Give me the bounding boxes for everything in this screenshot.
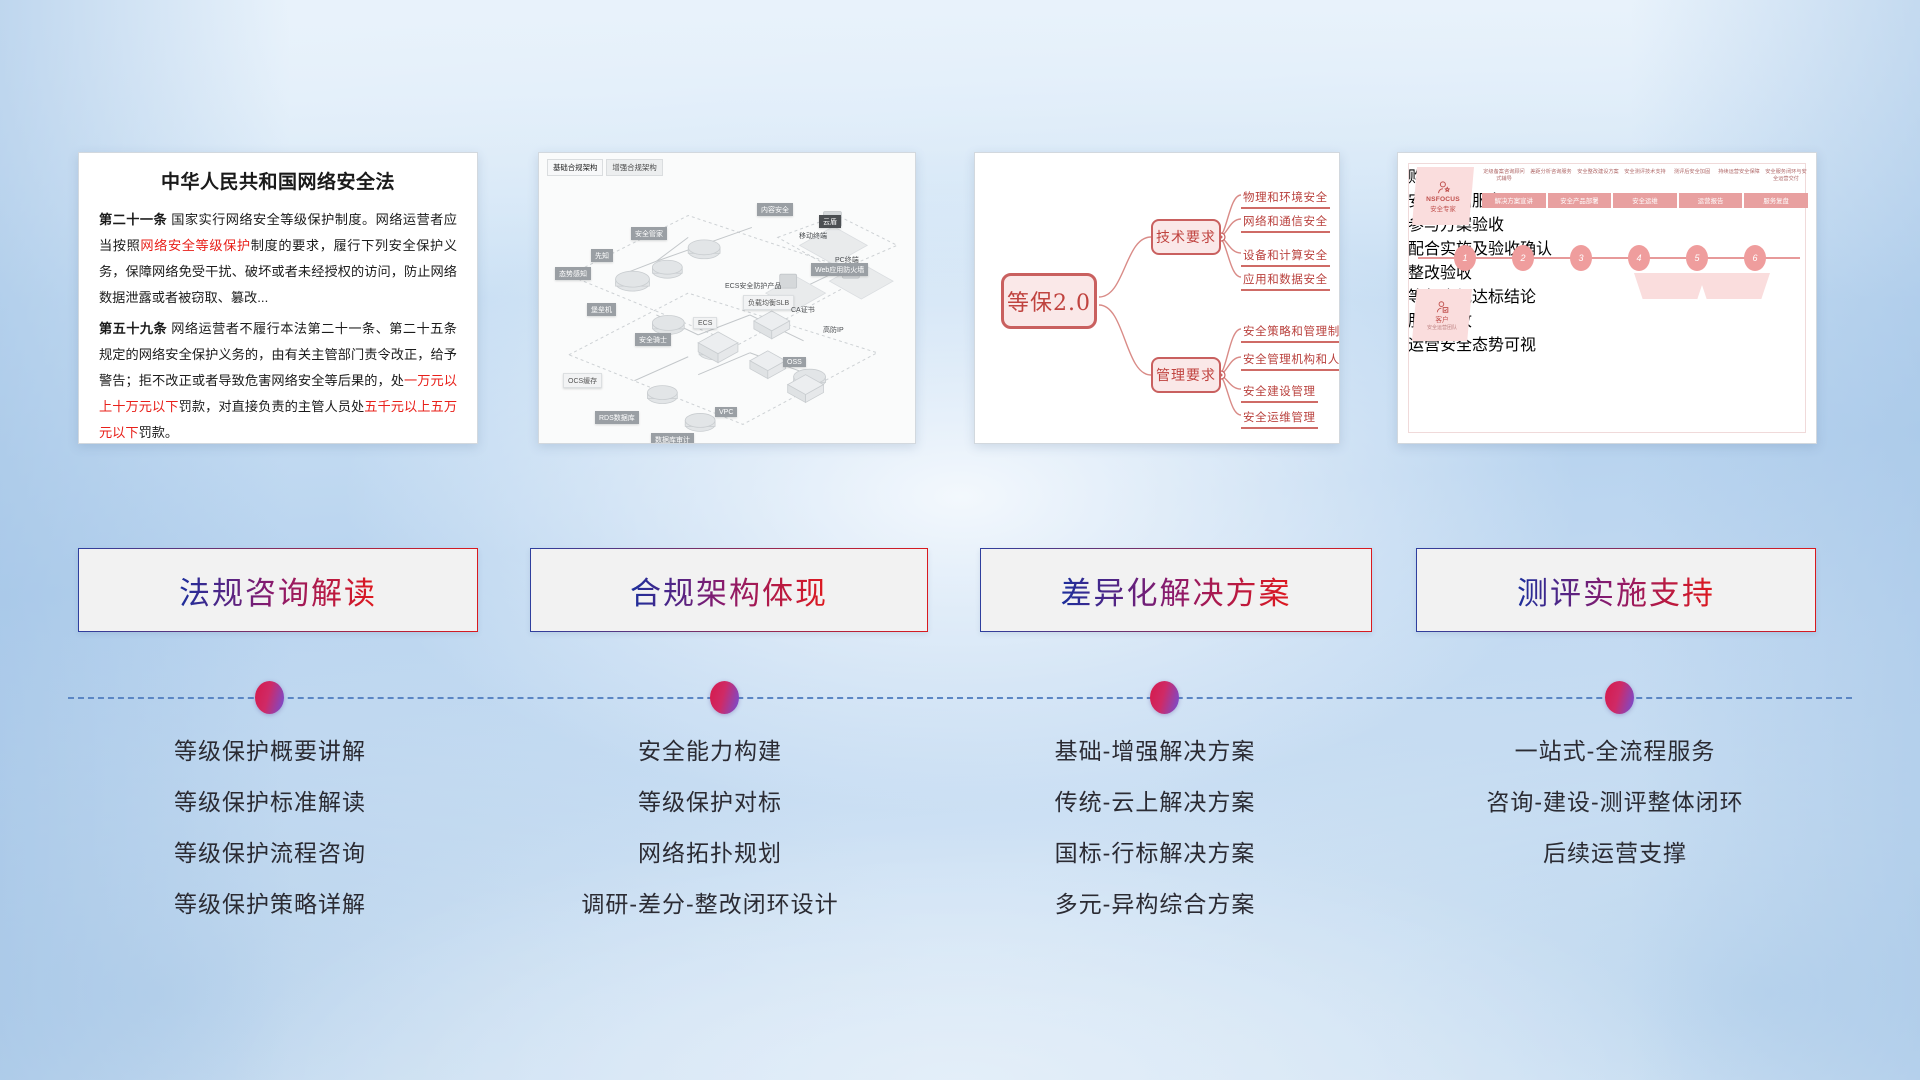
- arch-node-label: 内容安全: [757, 203, 793, 216]
- bullet-item: 等级保护概要讲解: [40, 740, 500, 763]
- nsfocus-top-headers: 定级备案咨询顾问式辅导差距分析咨询服务安全整改建设方案安全测评技术支持测评后安全…: [1482, 169, 1808, 182]
- nsfocus-step-number[interactable]: 1: [1454, 245, 1476, 271]
- bullet-item: 安全能力构建: [480, 740, 940, 763]
- nsfocus-step-chip[interactable]: 服务复盘: [1744, 193, 1808, 208]
- nsfocus-step-number[interactable]: 5: [1686, 245, 1708, 271]
- nsfocus-expert-badge: NSFOCUS 安全专家: [1412, 167, 1474, 225]
- mindmap-leaf[interactable]: 安全策略和管理制度: [1241, 323, 1340, 343]
- bullet-item: 等级保护策略详解: [40, 893, 500, 916]
- bullet-item: 后续运营支撑: [1380, 842, 1850, 865]
- arch-tab-enhanced[interactable]: 增强合规架构: [606, 159, 662, 176]
- bullet-item: 咨询-建设-测评整体闭环: [1380, 791, 1850, 814]
- law-article-21: 第二十一条 国家实行网络安全等级保护制度。网络运营者应当按照网络安全等级保护制度…: [99, 207, 457, 312]
- nsfocus-customer-badge: 客户 安全运营团队: [1412, 289, 1472, 341]
- mindmap-leaf[interactable]: 安全运维管理: [1241, 409, 1318, 429]
- nsfocus-top-header: 差距分析咨询服务: [1529, 169, 1573, 182]
- section-title-box-3[interactable]: 差异化解决方案: [980, 548, 1372, 632]
- bullet-item: 等级保护流程咨询: [40, 842, 500, 865]
- arch-node-label: 数据库审计: [651, 433, 694, 444]
- law-body-text: 罚款，对直接负责的主管人员处: [179, 399, 365, 414]
- customer-sub: 安全运营团队: [1427, 324, 1457, 331]
- arch-node-label: 堡垒机: [587, 303, 616, 316]
- nsfocus-step-number[interactable]: 2: [1512, 245, 1534, 271]
- card-compliance-architecture[interactable]: 基础合规架构 增强合规架构: [538, 152, 916, 444]
- section-title-2: 合规架构体现: [630, 568, 828, 613]
- section-title-box-2[interactable]: 合规架构体现: [530, 548, 928, 632]
- mindmap-leaf[interactable]: 物理和环境安全: [1241, 189, 1330, 209]
- nsfocus-step-number[interactable]: 3: [1570, 245, 1592, 271]
- mindmap-leaf[interactable]: 网络和通信安全: [1241, 213, 1330, 233]
- bullet-item: 调研-差分-整改闭环设计: [480, 893, 940, 916]
- nsfocus-top-header: 测评后安全加固: [1670, 169, 1714, 182]
- arch-node-label: ECS安全防护产品: [721, 279, 785, 292]
- bullet-column-1: 等级保护概要讲解等级保护标准解读等级保护流程咨询等级保护策略详解: [40, 740, 500, 944]
- person-check-icon: [1435, 300, 1449, 314]
- law-highlight-text: 网络安全等级保护: [140, 238, 250, 253]
- bullet-item: 基础-增强解决方案: [925, 740, 1385, 763]
- mindmap-branch-management[interactable]: 管理要求: [1151, 357, 1221, 393]
- nsfocus-top-header: 定级备案咨询顾问式辅导: [1482, 169, 1526, 182]
- bullet-item: 一站式-全流程服务: [1380, 740, 1850, 763]
- arch-tab-basic[interactable]: 基础合规架构: [547, 159, 603, 176]
- section-title-4: 测评实施支持: [1517, 568, 1715, 613]
- mindmap-leaf[interactable]: 应用和数据安全: [1241, 271, 1330, 291]
- timeline-dot-2[interactable]: [710, 681, 739, 714]
- mindmap-leaf[interactable]: 安全管理机构和人员: [1241, 351, 1340, 371]
- law-article-number: 第五十九条: [99, 321, 167, 336]
- arch-node-label: 云盾: [819, 215, 841, 228]
- bullet-column-2: 安全能力构建等级保护对标网络拓扑规划调研-差分-整改闭环设计: [480, 740, 940, 944]
- nsfocus-step-chip[interactable]: 安全产品部署: [1548, 193, 1612, 208]
- section-title-box-1[interactable]: 法规咨询解读: [78, 548, 478, 632]
- nsfocus-top-header: 安全测评技术支持: [1623, 169, 1667, 182]
- law-title: 中华人民共和国网络安全法: [99, 167, 457, 194]
- nsfocus-top-header: 安全服务闭环与安全运营交付: [1764, 169, 1808, 182]
- arch-node-label: 高防IP: [819, 323, 848, 336]
- nsfocus-top-header: 安全整改建设方案: [1576, 169, 1620, 182]
- arch-node-label: OSS: [783, 357, 806, 367]
- nsfocus-step-chip[interactable]: 运营报告: [1679, 193, 1743, 208]
- arch-node-label: 安全管家: [631, 227, 667, 240]
- bullet-item: 传统-云上解决方案: [925, 791, 1385, 814]
- bullet-item: 多元-异构综合方案: [925, 893, 1385, 916]
- nsfocus-step-number[interactable]: 6: [1744, 245, 1766, 271]
- nsfocus-top-header: 持续运营安全保障: [1717, 169, 1761, 182]
- nsfocus-step-chip[interactable]: 解决方案宣讲: [1482, 193, 1546, 208]
- law-article-59: 第五十九条 网络运营者不履行本法第二十一条、第二十五条规定的网络安全保护义务的，…: [99, 316, 457, 444]
- law-body-text: 罚款。: [139, 425, 179, 440]
- architecture-diagram: 基础合规架构 增强合规架构: [539, 153, 915, 443]
- card-mindmap-dengbao[interactable]: 等保2.0 技术要求 管理要求 物理和环境安全网络和通信安全设备和计算安全应用和…: [974, 152, 1340, 444]
- expert-name: NSFOCUS: [1426, 196, 1460, 203]
- section-title-3: 差异化解决方案: [1061, 568, 1292, 613]
- arch-node-label: 移动终端: [795, 229, 831, 242]
- arch-node-label: 先知: [591, 249, 613, 262]
- bullet-item: 国标-行标解决方案: [925, 842, 1385, 865]
- arch-node-label: 态势感知: [555, 267, 591, 280]
- nsfocus-diagram: NSFOCUS 安全专家 定级备案咨询顾问式辅导差距分析咨询服务安全整改建设方案…: [1398, 153, 1816, 443]
- architecture-tabs[interactable]: 基础合规架构 增强合规架构: [547, 159, 663, 176]
- law-document: 中华人民共和国网络安全法 第二十一条 国家实行网络安全等级保护制度。网络运营者应…: [79, 153, 477, 444]
- bullet-item: 等级保护标准解读: [40, 791, 500, 814]
- mindmap-branch-technical[interactable]: 技术要求: [1151, 219, 1221, 255]
- timeline-dashed-line: [68, 697, 1852, 699]
- mindmap: 等保2.0 技术要求 管理要求 物理和环境安全网络和通信安全设备和计算安全应用和…: [975, 153, 1339, 443]
- bullet-column-4: 一站式-全流程服务咨询-建设-测评整体闭环后续运营支撑: [1380, 740, 1850, 893]
- timeline-dot-4[interactable]: [1605, 681, 1634, 714]
- nsfocus-bottom-trapezoid: [1698, 273, 1770, 299]
- mindmap-leaf[interactable]: 设备和计算安全: [1241, 247, 1330, 267]
- nsfocus-step-chips: 解决方案宣讲安全产品部署安全运维运营报告服务复盘: [1482, 193, 1808, 208]
- nsfocus-step-number[interactable]: 4: [1628, 245, 1650, 271]
- arch-node-label: ECS: [693, 317, 717, 329]
- section-title-1: 法规咨询解读: [179, 568, 377, 613]
- person-star-icon: [1436, 180, 1451, 195]
- timeline-dot-1[interactable]: [255, 681, 284, 714]
- mindmap-root-node[interactable]: 等保2.0: [1001, 273, 1097, 329]
- bullet-item: 等级保护对标: [480, 791, 940, 814]
- section-title-box-4[interactable]: 测评实施支持: [1416, 548, 1816, 632]
- screenshot-card-row: 中华人民共和国网络安全法 第二十一条 国家实行网络安全等级保护制度。网络运营者应…: [0, 152, 1920, 444]
- customer-name: 客户: [1435, 314, 1448, 324]
- arch-node-label: PC终端: [831, 253, 863, 266]
- card-cybersecurity-law[interactable]: 中华人民共和国网络安全法 第二十一条 国家实行网络安全等级保护制度。网络运营者应…: [78, 152, 478, 444]
- expert-sub: 安全专家: [1430, 204, 1456, 213]
- timeline-dot-3[interactable]: [1150, 681, 1179, 714]
- mindmap-leaf[interactable]: 安全建设管理: [1241, 383, 1318, 403]
- arch-node-label: OCS缓存: [563, 373, 602, 388]
- nsfocus-step-chip[interactable]: 安全运维: [1613, 193, 1677, 208]
- arch-node-label: RDS数据库: [595, 411, 639, 424]
- bullet-item: 网络拓扑规划: [480, 842, 940, 865]
- arch-node-label: 安全骑士: [635, 333, 671, 346]
- law-article-number: 第二十一条: [99, 212, 167, 227]
- arch-node-label: VPC: [715, 407, 737, 417]
- arch-node-label: CA证书: [787, 303, 819, 316]
- card-nsfocus-service-timeline[interactable]: NSFOCUS 安全专家 定级备案咨询顾问式辅导差距分析咨询服务安全整改建设方案…: [1397, 152, 1817, 444]
- bullet-column-3: 基础-增强解决方案传统-云上解决方案国标-行标解决方案多元-异构综合方案: [925, 740, 1385, 944]
- nsfocus-bottom-trapezoid: [1634, 273, 1706, 299]
